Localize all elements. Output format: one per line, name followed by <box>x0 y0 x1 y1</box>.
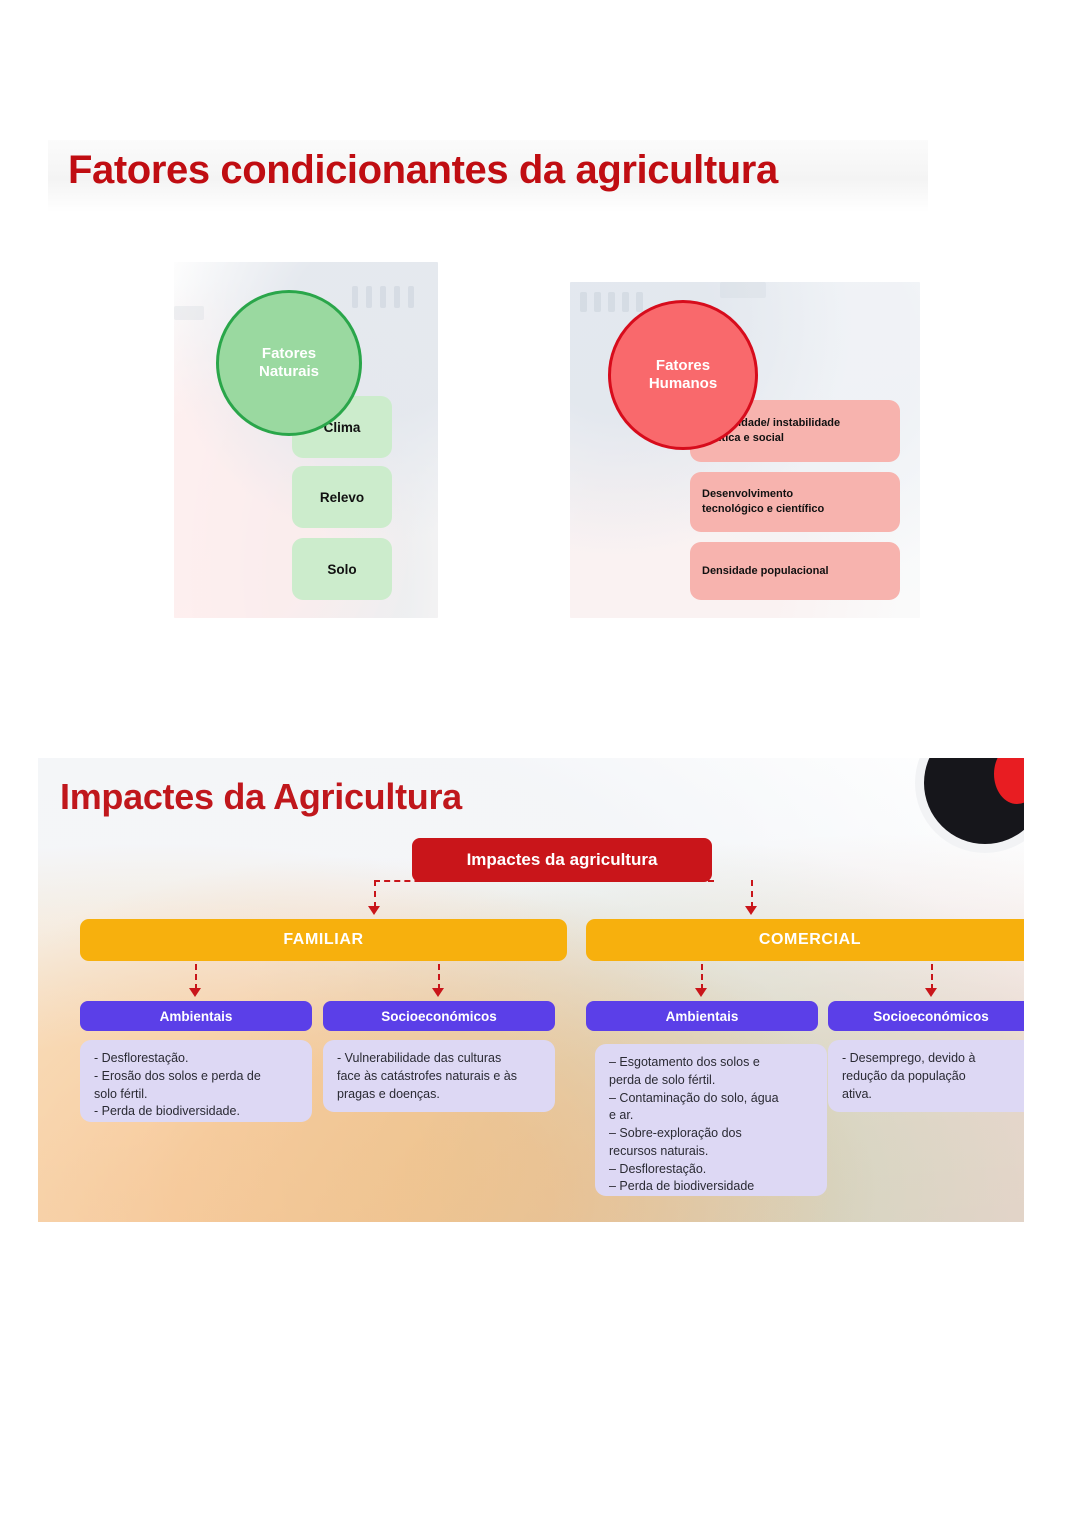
text-line: solo fértil. <box>94 1086 300 1104</box>
text-line: – Desflorestação. <box>609 1161 815 1179</box>
arrow-comercial-socioeconomicos <box>925 988 937 997</box>
connector-root-right-vertical <box>751 880 753 908</box>
section-fatores-condicionantes: Fatores condicionantes da agricultura Fa… <box>0 0 1080 700</box>
text-line: - Vulnerabilidade das culturas <box>337 1050 543 1068</box>
connector-familiar-socioeconomicos <box>438 964 440 990</box>
photo-streak <box>394 286 400 308</box>
text-line: e ar. <box>609 1107 815 1125</box>
text-line: - Erosão dos solos e perda de <box>94 1068 300 1086</box>
chip-label-line1: Desenvolvimento <box>702 487 824 502</box>
connector-familiar-ambientais <box>195 964 197 990</box>
photo-streak <box>636 292 643 312</box>
engine-photo-decoration <box>924 758 1024 844</box>
arrow-familiar-socioeconomicos <box>432 988 444 997</box>
text-line: - Desflorestação. <box>94 1050 300 1068</box>
arrow-comercial-ambientais <box>695 988 707 997</box>
node-impactes-da-agricultura: Impactes da agricultura <box>412 838 712 882</box>
section-title: Impactes da Agricultura <box>60 776 462 818</box>
node-familiar: FAMILIAR <box>80 919 567 961</box>
chip-label-line1: Densidade populacional <box>702 564 829 579</box>
photo-streak <box>352 286 358 308</box>
chip-relevo: Relevo <box>292 466 392 528</box>
header-comercial-ambientais: Ambientais <box>586 1001 818 1031</box>
text-line: - Perda de biodiversidade. <box>94 1103 300 1121</box>
photo-streak <box>594 292 601 312</box>
chip-label-line2: tecnológico e científico <box>702 502 824 517</box>
text-line: face às catástrofes naturais e às <box>337 1068 543 1086</box>
text-familiar-socioeconomicos: - Vulnerabilidade das culturas face às c… <box>323 1040 555 1112</box>
header-comercial-socioeconomicos: Socioeconómicos <box>828 1001 1024 1031</box>
text-line: – Contaminação do solo, água <box>609 1090 815 1108</box>
text-comercial-ambientais: – Esgotamento dos solos e perda de solo … <box>595 1044 827 1196</box>
arrow-to-comercial <box>745 906 757 915</box>
page-title: Fatores condicionantes da agricultura <box>68 148 778 193</box>
photo-streak <box>174 306 204 320</box>
chip-desenvolvimento: Desenvolvimento tecnológico e científico <box>690 472 900 532</box>
text-line: – Sobre-exploração dos <box>609 1125 815 1143</box>
text-line: – Perda de biodiversidade <box>609 1178 815 1196</box>
connector-root-left-vertical <box>374 880 376 908</box>
arrow-familiar-ambientais <box>189 988 201 997</box>
circle-label-line1: Fatores <box>649 357 717 375</box>
text-line: recursos naturais. <box>609 1143 815 1161</box>
chip-densidade-populacional: Densidade populacional <box>690 542 900 600</box>
text-line: perda de solo fértil. <box>609 1072 815 1090</box>
node-fatores-naturais: Fatores Naturais <box>216 290 362 436</box>
text-line: – Esgotamento dos solos e <box>609 1054 815 1072</box>
header-familiar-socioeconomicos: Socioeconómicos <box>323 1001 555 1031</box>
photo-streak <box>366 286 372 308</box>
text-comercial-socioeconomicos: - Desemprego, devido à redução da popula… <box>828 1040 1024 1112</box>
text-familiar-ambientais: - Desflorestação. - Erosão dos solos e p… <box>80 1040 312 1122</box>
photo-streak <box>380 286 386 308</box>
circle-label-line2: Humanos <box>649 375 717 393</box>
header-familiar-ambientais: Ambientais <box>80 1001 312 1031</box>
section-impactes-da-agricultura: Impactes da Agricultura Impactes da agri… <box>38 758 1024 1222</box>
text-line: redução da população <box>842 1068 1022 1086</box>
chip-label: Relevo <box>320 490 364 505</box>
photo-streak <box>608 292 615 312</box>
photo-streak <box>622 292 629 312</box>
node-comercial: COMERCIAL <box>586 919 1024 961</box>
circle-label-line2: Naturais <box>259 363 319 381</box>
text-line: pragas e doenças. <box>337 1086 543 1104</box>
arrow-to-familiar <box>368 906 380 915</box>
photo-streak <box>720 282 766 298</box>
node-fatores-humanos: Fatores Humanos <box>608 300 758 450</box>
chip-label: Solo <box>327 562 356 577</box>
text-line: - Desemprego, devido à <box>842 1050 1022 1068</box>
text-line: ativa. <box>842 1086 1022 1104</box>
chip-solo: Solo <box>292 538 392 600</box>
connector-comercial-socioeconomicos <box>931 964 933 990</box>
connector-comercial-ambientais <box>701 964 703 990</box>
photo-streak <box>580 292 587 312</box>
photo-streak <box>408 286 414 308</box>
circle-label-line1: Fatores <box>259 345 319 363</box>
